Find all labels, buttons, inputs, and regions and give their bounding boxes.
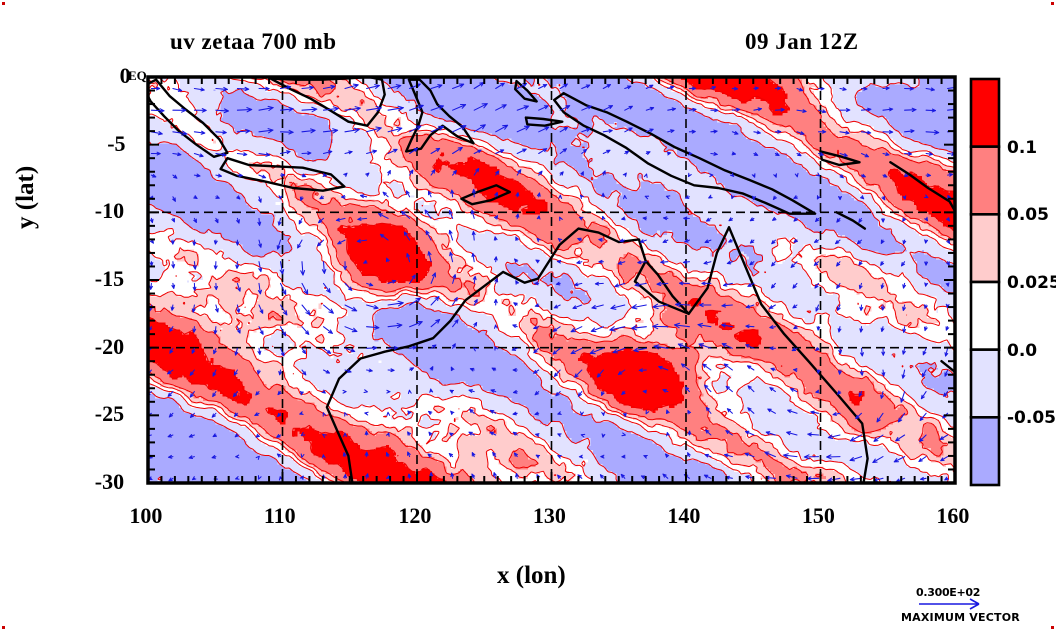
map-canvas [0,0,1056,631]
y-tick-label: -25 [95,401,124,427]
plot-page: uv zetaa 700 mb 09 Jan 12Z y (lat) x (lo… [0,0,1056,631]
x-tick-label: 130 [533,503,566,529]
colorbar-tick-label: 0.0 [1007,341,1037,361]
y-tick-label: -15 [95,266,124,292]
y-tick-label: -10 [95,198,124,224]
colorbar-tick-label: 0.05 [1007,205,1049,225]
colorbar [971,79,999,485]
colorbar-tick-label: 0.025 [1007,273,1056,293]
y-tick-label: 0 [120,63,131,89]
y-tick-label: -20 [95,334,124,360]
colorbar-tick-label: 0.1 [1007,138,1037,158]
vector-key-arrow [919,599,979,609]
x-tick-label: 150 [802,503,835,529]
x-tick-label: 160 [936,503,969,529]
y-tick-label: -30 [95,469,124,495]
x-tick-label: 100 [129,503,162,529]
x-tick-label: 110 [264,503,296,529]
y-tick-label: -5 [107,131,125,157]
x-tick-label: 140 [667,503,700,529]
colorbar-tick-label: -0.05 [1007,408,1056,428]
x-tick-label: 120 [398,503,431,529]
